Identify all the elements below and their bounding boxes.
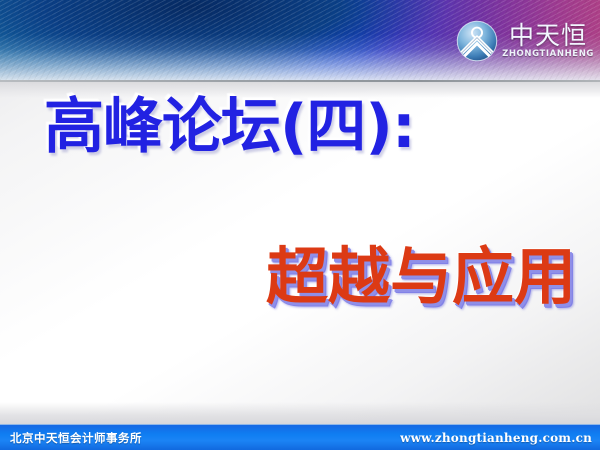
- presentation-slide: 中天恒 ZHONGTIANHENG 高峰论坛(四): 超越与应用 北京中天恒会计…: [0, 0, 600, 450]
- logo-wordmark: 中天恒 ZHONGTIANHENG: [502, 23, 594, 59]
- company-logo: 中天恒 ZHONGTIANHENG: [456, 20, 594, 62]
- footer-shelf-band: [0, 402, 600, 424]
- footer-bar: 北京中天恒会计师事务所 www.zhongtianheng.com.cn: [0, 424, 600, 450]
- header-banner: 中天恒 ZHONGTIANHENG: [0, 0, 600, 82]
- footer-website-url[interactable]: www.zhongtianheng.com.cn: [400, 431, 592, 445]
- mountain-circle-logo-icon: [456, 20, 498, 62]
- slide-title-line-1: 高峰论坛(四):: [44, 96, 415, 159]
- logo-english-name: ZHONGTIANHENG: [502, 50, 594, 59]
- logo-chinese-name: 中天恒: [509, 23, 587, 48]
- slide-title-line-2: 超越与应用: [266, 244, 576, 309]
- footer-company-name: 北京中天恒会计师事务所: [10, 430, 142, 446]
